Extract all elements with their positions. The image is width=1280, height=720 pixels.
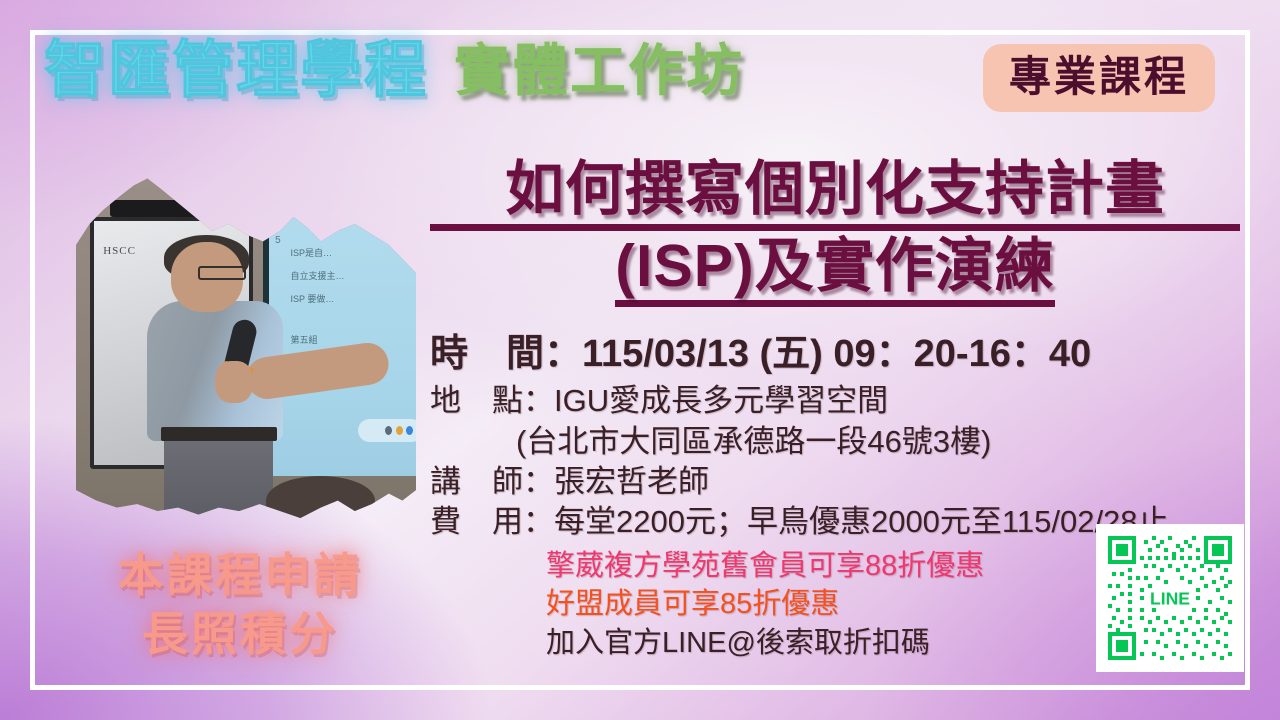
- photo-taskbar-icon-2: [396, 426, 403, 435]
- info-address: (台北市大同區承德路一段46號3樓): [430, 422, 1250, 462]
- photo-person-legs: [164, 434, 273, 518]
- photo-content: HSCC 5 ISP是自… 自立支援主… ISP 要做… 6 第五組 自立支援是…: [76, 168, 416, 518]
- lecturer-photo: HSCC 5 ISP是自… 自立支援主… ISP 要做… 6 第五組 自立支援是…: [76, 168, 416, 518]
- svg-text:LINE: LINE: [1150, 588, 1190, 608]
- credit-callout-line-1: 本課程申請: [70, 546, 410, 605]
- photo-screen-number-1: 5: [275, 235, 281, 246]
- credit-callout: 本課程申請 長照積分: [70, 546, 410, 664]
- photo-screen-line-1: ISP是自…: [291, 246, 333, 259]
- course-title-line-1: 如何撰寫個別化支持計畫: [430, 158, 1240, 231]
- info-lecturer: 講 師：張宏哲老師: [430, 462, 1250, 502]
- photo-audience-head: [266, 476, 375, 518]
- credit-callout-line-2: 長照積分: [70, 605, 410, 664]
- photo-person-glasses: [198, 266, 246, 280]
- line-qr-code[interactable]: LINE: [1096, 524, 1244, 672]
- photo-whiteboard-clip: [110, 200, 239, 218]
- info-place: 地 點：IGU愛成長多元學習空間: [430, 381, 1250, 421]
- course-type-badge: 專業課程: [983, 44, 1215, 112]
- photo-screen-line-2: 自立支援主…: [291, 269, 345, 282]
- course-title-line-2-wrap: (ISP)及實作演練: [430, 231, 1240, 308]
- photo-taskbar-icon-1: [385, 426, 392, 435]
- course-title: 如何撰寫個別化支持計畫 (ISP)及實作演練: [430, 158, 1240, 307]
- poster-canvas: 智匯管理學程 實體工作坊 專業課程 HSCC 5 ISP是自… 自立支援主… I…: [0, 0, 1280, 720]
- course-title-line-2: (ISP)及實作演練: [615, 235, 1054, 308]
- photo-whiteboard-text: HSCC: [103, 245, 136, 257]
- poster-header: 智匯管理學程 實體工作坊: [44, 40, 744, 102]
- program-subtitle: 實體工作坊: [454, 43, 744, 99]
- photo-person-belt: [161, 427, 277, 441]
- photo-taskbar-icon-3: [406, 426, 413, 435]
- photo-screen-line-3: ISP 要做…: [291, 292, 335, 305]
- photo-screen-taskbar: [358, 419, 416, 442]
- photo-projection-screen: 5 ISP是自… 自立支援主… ISP 要做… 6 第五組 自立支援是… Isp…: [263, 189, 416, 476]
- info-time: 時 間：115/03/13 (五) 09：20-16：40: [430, 330, 1250, 379]
- photo-screen-line-4: 第五組: [291, 333, 318, 346]
- photo-person-hand: [215, 361, 252, 403]
- qr-code-graphic: LINE: [1104, 532, 1236, 664]
- program-brand-title: 智匯管理學程: [44, 40, 428, 102]
